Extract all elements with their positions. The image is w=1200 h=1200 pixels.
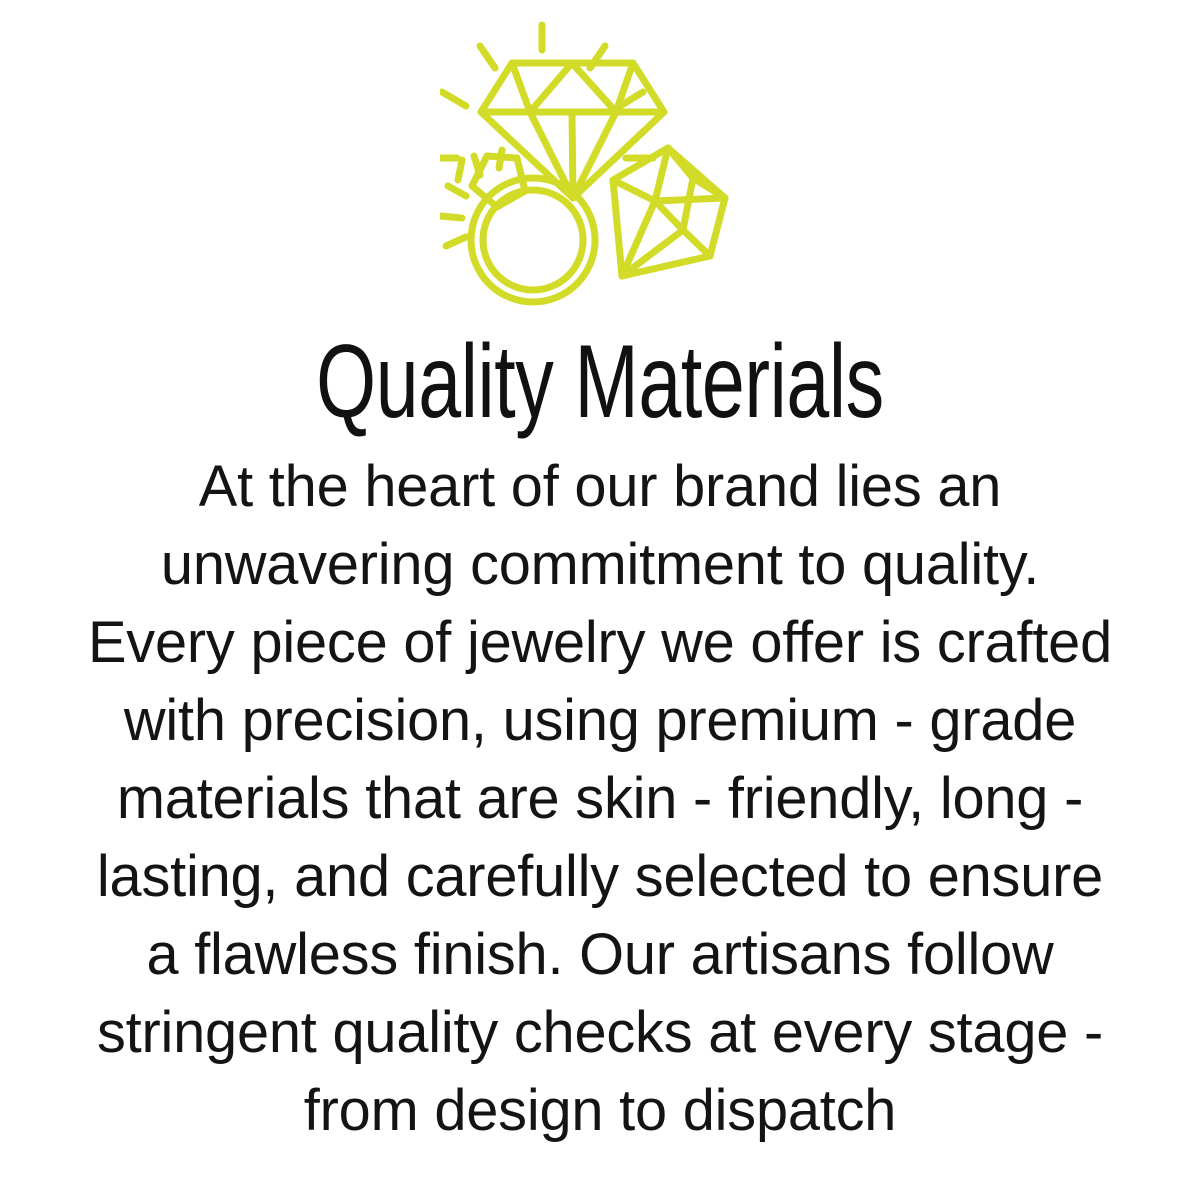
body-line: At the heart of our brand lies an [33,448,1168,526]
body-line: materials that are skin - friendly, long… [33,760,1168,838]
body-line: lasting, and carefully selected to ensur… [33,838,1168,916]
body-line: unwavering commitment to quality. [33,526,1168,604]
body-line: from design to dispatch [33,1072,1168,1150]
body-paragraph: At the heart of our brand lies an unwave… [30,448,1170,1150]
page-title: Quality Materials [185,330,1015,434]
body-line: with precision, using premium - grade [33,682,1168,760]
body-line: a flawless finish. Our artisans follow [33,916,1168,994]
jewelry-icon-svg [440,8,760,308]
body-line: Every piece of jewelry we offer is craft… [33,604,1168,682]
body-line: stringent quality checks at every stage … [33,994,1168,1072]
jewelry-diamonds-ring-icon [440,8,760,308]
tilted-gem [613,148,725,276]
quality-materials-card: Quality Materials At the heart of our br… [0,0,1200,1200]
large-diamond [481,63,664,198]
engagement-ring [471,156,595,302]
